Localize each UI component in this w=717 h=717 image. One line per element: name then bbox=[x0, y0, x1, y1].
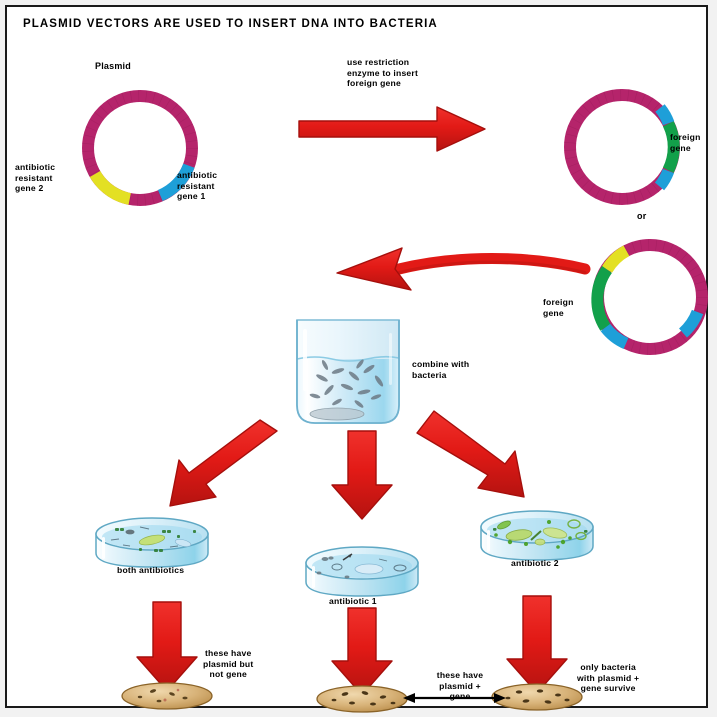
arrow-to-plate-left bbox=[137, 602, 197, 691]
arrow-insert-gene bbox=[299, 107, 485, 151]
label-or: or bbox=[637, 211, 646, 222]
agar-plate-right bbox=[492, 684, 582, 710]
label-antibiotic-resistant-gene-2: antibiotic resistant gene 2 bbox=[15, 162, 55, 194]
petri-dish-antibiotic-2 bbox=[481, 511, 593, 560]
arrow-to-dish-antibiotic-1 bbox=[332, 431, 392, 519]
petri-dish-both-antibiotics bbox=[96, 518, 208, 567]
petri-dish-antibiotic-1 bbox=[306, 547, 418, 596]
arrow-to-plate-middle bbox=[332, 608, 392, 695]
agar-plate-left bbox=[122, 683, 212, 709]
label-plasmid-but-not-gene: these have plasmid but not gene bbox=[203, 648, 253, 680]
label-antibiotic-1: antibiotic 1 bbox=[329, 596, 377, 607]
label-foreign-gene-top: foreign gene bbox=[670, 132, 701, 153]
label-only-survive: only bacteria with plasmid + gene surviv… bbox=[577, 662, 639, 694]
arrow-to-dish-antibiotic-2 bbox=[417, 411, 524, 497]
arrow-to-plate-right bbox=[507, 596, 567, 693]
label-combine-with-bacteria: combine with bacteria bbox=[412, 359, 469, 380]
beaker-with-bacteria bbox=[297, 320, 399, 423]
label-foreign-gene-bottom: foreign gene bbox=[543, 297, 574, 318]
arrow-curved-to-beaker bbox=[337, 248, 585, 290]
figure-frame: PLASMID VECTORS ARE USED TO INSERT DNA I… bbox=[5, 5, 708, 708]
label-both-antibiotics: both antibiotics bbox=[117, 565, 184, 576]
plasmid-recombinant-bottom bbox=[597, 245, 702, 349]
label-plasmid-plus-gene: these have plasmid + gene bbox=[420, 670, 500, 702]
label-antibiotic-2: antibiotic 2 bbox=[511, 558, 559, 569]
label-antibiotic-resistant-gene-1: antibiotic resistant gene 1 bbox=[177, 170, 217, 202]
label-use-restriction-enzyme: use restriction enzyme to insert foreign… bbox=[347, 57, 418, 89]
figure-canvas: PLASMID VECTORS ARE USED TO INSERT DNA I… bbox=[0, 0, 717, 717]
agar-plate-middle bbox=[317, 686, 407, 712]
label-plasmid: Plasmid bbox=[95, 61, 131, 72]
arrow-to-dish-both bbox=[170, 420, 277, 506]
plasmid-recombinant-top bbox=[570, 95, 674, 199]
